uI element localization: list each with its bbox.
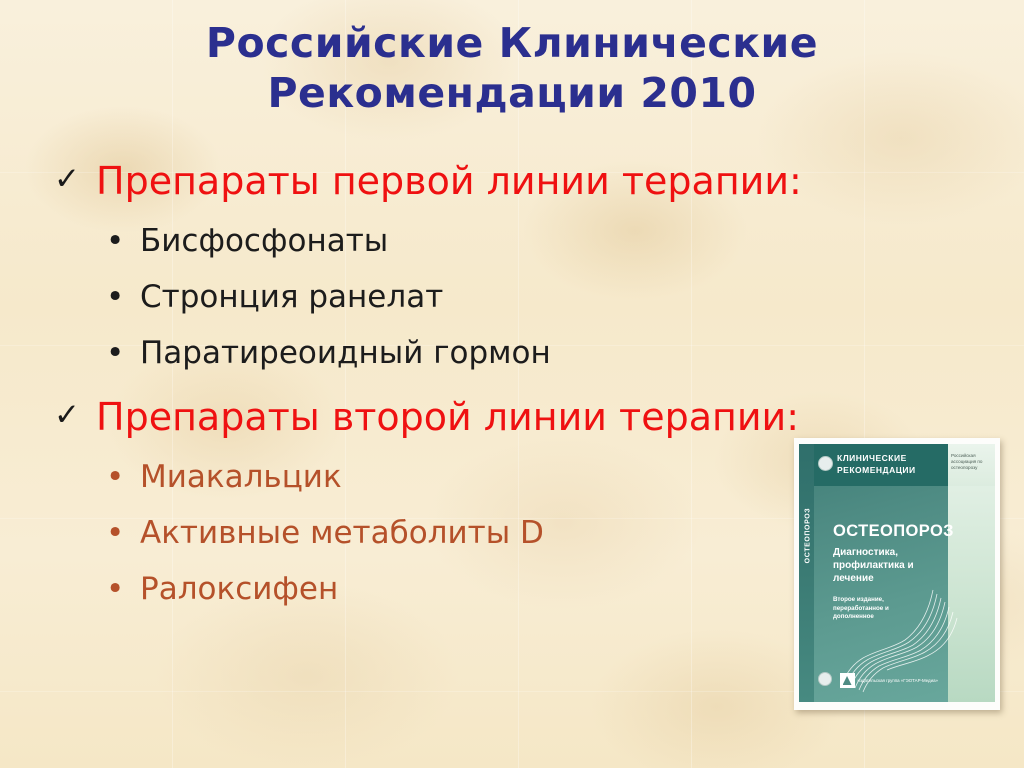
- publisher-logo: издательская группа «ГЭОТАР-Медиа»: [840, 673, 938, 688]
- association-emblem-bottom-icon: [818, 672, 832, 686]
- association-name: Российская ассоциация по остеопорозу: [951, 453, 995, 472]
- bullet-dot-icon: •: [106, 458, 124, 496]
- bullet-dot-icon: •: [106, 222, 124, 260]
- page-title-line-2: Рекомендации 2010: [120, 68, 904, 118]
- page-title-line-1: Российские Клинические: [120, 18, 904, 68]
- book-series-text: КЛИНИЧЕСКИЕ РЕКОМЕНДАЦИИ: [837, 452, 916, 476]
- level1-heading-1-text: Препараты первой линии терапии:: [96, 159, 802, 203]
- page-title: Российские Клинические Рекомендации 2010: [120, 18, 904, 118]
- checkmark-icon: ✓: [54, 392, 80, 438]
- book-title: ОСТЕОПОРОЗ: [833, 522, 954, 541]
- association-strip: Российская ассоциация по остеопорозу: [948, 444, 995, 486]
- slide-canvas: Российские Клинические Рекомендации 2010…: [0, 0, 1024, 768]
- level1-heading-2: ✓ Препараты второй линии терапии:: [48, 394, 928, 440]
- list-item: • Стронция ранелат: [48, 278, 928, 316]
- publisher-mark-icon: [840, 673, 855, 688]
- list-item-label: Миакальцик: [140, 459, 342, 495]
- book-series-line-2: РЕКОМЕНДАЦИИ: [837, 464, 916, 476]
- book-spine-title: ОСТЕОПОРОЗ: [805, 501, 812, 571]
- association-emblem-icon: [818, 456, 833, 471]
- book-cover-image: ОСТЕОПОРОЗ КЛИНИЧЕСКИЕ РЕКОМЕНДАЦИИ ОСТЕ…: [794, 438, 1000, 710]
- list-item-label: Бисфосфонаты: [140, 223, 388, 259]
- book-cover-inner: ОСТЕОПОРОЗ КЛИНИЧЕСКИЕ РЕКОМЕНДАЦИИ ОСТЕ…: [799, 444, 995, 702]
- publisher-name: издательская группа «ГЭОТАР-Медиа»: [858, 678, 938, 684]
- book-subtitle: Диагностика, профилактика и лечение: [833, 546, 925, 585]
- level1-heading-2-text: Препараты второй линии терапии:: [96, 395, 799, 439]
- bullet-dot-icon: •: [106, 570, 124, 608]
- bullet-dot-icon: •: [106, 514, 124, 552]
- list-item: • Бисфосфонаты: [48, 222, 928, 260]
- book-series-line-1: КЛИНИЧЕСКИЕ: [837, 452, 916, 464]
- content-group-1: ✓ Препараты первой линии терапии: • Бисф…: [48, 158, 928, 372]
- list-item: • Паратиреоидный гормон: [48, 334, 928, 372]
- level1-heading-1: ✓ Препараты первой линии терапии:: [48, 158, 928, 204]
- list-item-label: Активные метаболиты D: [140, 515, 544, 551]
- checkmark-icon: ✓: [54, 156, 80, 202]
- book-spine: ОСТЕОПОРОЗ: [799, 444, 814, 702]
- bullet-dot-icon: •: [106, 334, 124, 372]
- bullet-dot-icon: •: [106, 278, 124, 316]
- book-edition: Второе издание, переработанное и дополне…: [833, 596, 915, 622]
- list-item-label: Паратиреоидный гормон: [140, 335, 551, 371]
- list-item-label: Ралоксифен: [140, 571, 338, 607]
- book-front-face: ОСТЕОПОРОЗ КЛИНИЧЕСКИЕ РЕКОМЕНДАЦИИ ОСТЕ…: [799, 444, 948, 702]
- list-item-label: Стронция ранелат: [140, 279, 443, 315]
